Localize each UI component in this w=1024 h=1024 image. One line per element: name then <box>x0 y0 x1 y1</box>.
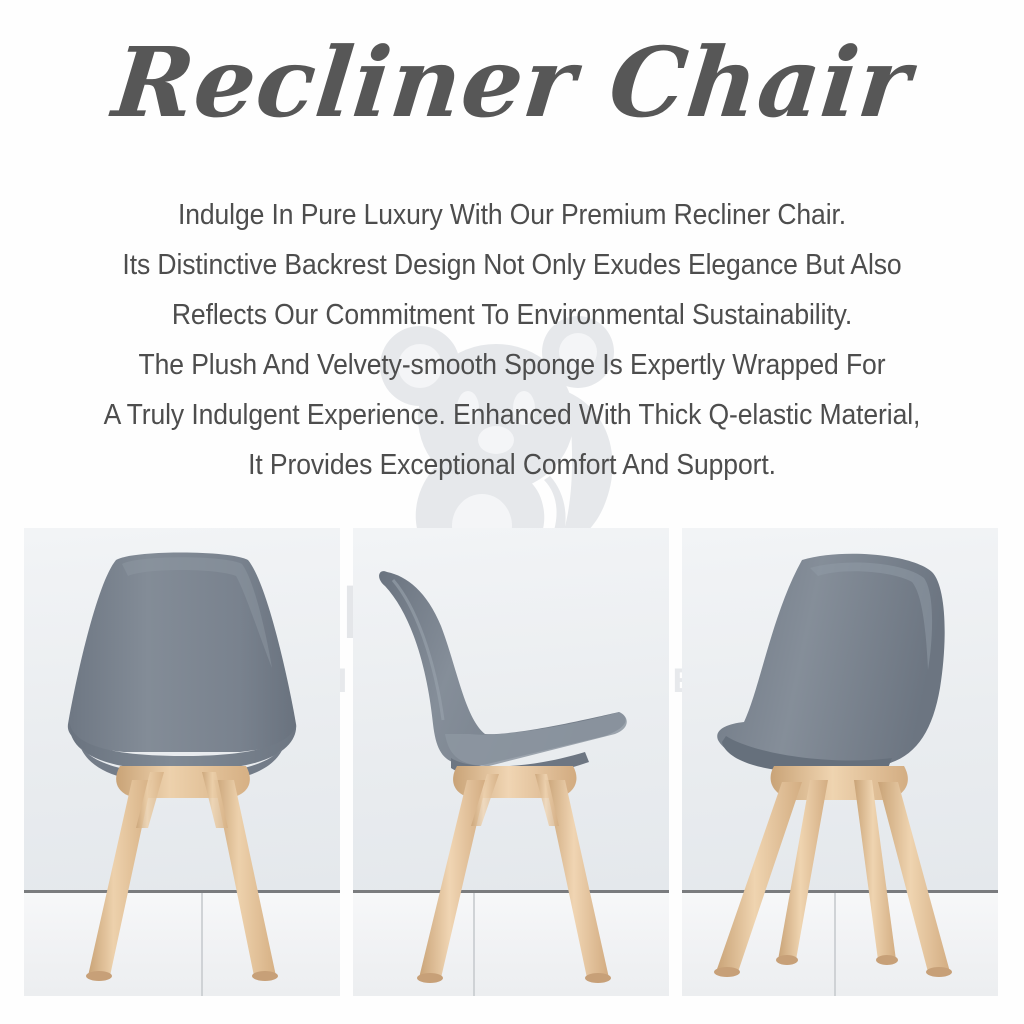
page-title: Recliner Chair <box>108 28 916 138</box>
description-line-1: Indulge In Pure Luxury With Our Premium … <box>36 190 988 240</box>
product-image-gallery <box>24 528 998 996</box>
product-photo-rear-quarter[interactable] <box>682 528 998 996</box>
description-line-6: It Provides Exceptional Comfort And Supp… <box>36 440 988 490</box>
description-line-2: Its Distinctive Backrest Design Not Only… <box>36 240 988 290</box>
title-block: Recliner Chair <box>0 28 1024 138</box>
chair-illustration-side <box>353 528 669 996</box>
description-line-4: The Plush And Velvety-smooth Sponge Is E… <box>36 340 988 390</box>
product-photo-side-profile[interactable] <box>353 528 669 996</box>
description-block: Indulge In Pure Luxury With Our Premium … <box>0 190 1024 490</box>
product-photo-front-angled[interactable] <box>24 528 340 996</box>
description-line-5: A Truly Indulgent Experience. Enhanced W… <box>36 390 988 440</box>
chair-illustration-rear <box>682 528 998 996</box>
description-line-3: Reflects Our Commitment To Environmental… <box>36 290 988 340</box>
chair-illustration-front <box>24 528 340 996</box>
